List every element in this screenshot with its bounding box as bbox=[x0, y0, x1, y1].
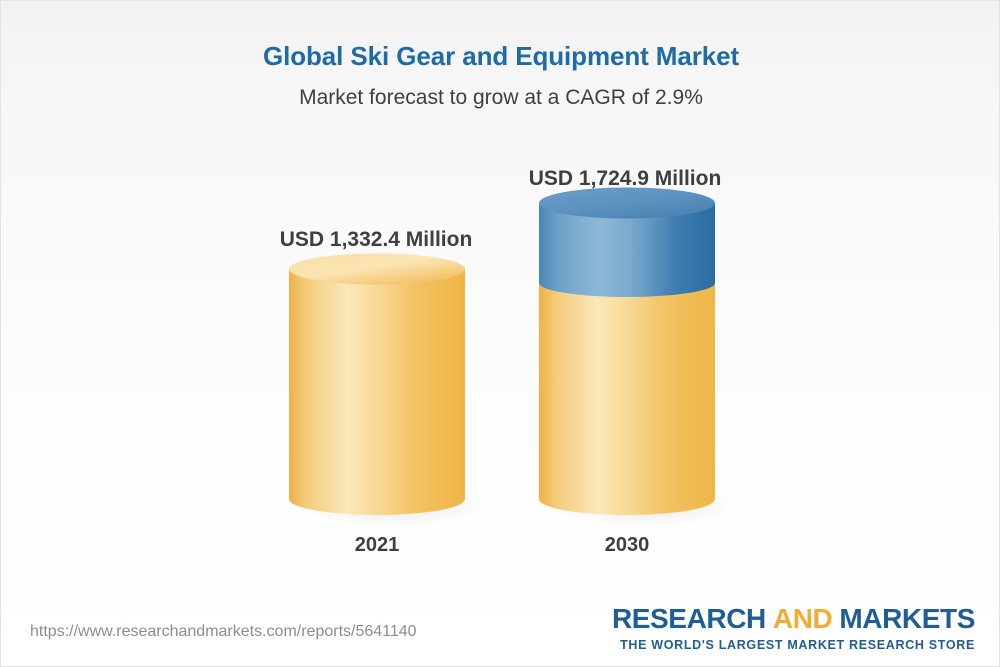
value-label-2021: USD 1,332.4 Million bbox=[226, 228, 526, 252]
cylinder-segment-base-2030 bbox=[539, 283, 715, 515]
logo-word-research: RESEARCH bbox=[612, 603, 766, 634]
cylinder-top-2021 bbox=[289, 254, 465, 285]
cylinder-2030 bbox=[539, 189, 715, 527]
value-label-2030: USD 1,724.9 Million bbox=[475, 167, 775, 191]
logo-word-and: AND bbox=[773, 603, 832, 634]
logo-tagline: THE WORLD'S LARGEST MARKET RESEARCH STOR… bbox=[612, 639, 975, 652]
logo-wordmark: RESEARCHANDMARKETS bbox=[612, 605, 975, 633]
infographic-canvas: Global Ski Gear and Equipment Market Mar… bbox=[0, 0, 1000, 667]
logo-word-markets: MARKETS bbox=[839, 603, 975, 634]
report-url[interactable]: https://www.researchandmarkets.com/repor… bbox=[30, 623, 417, 641]
cylinder-body-2021 bbox=[289, 269, 465, 515]
category-label-2030: 2030 bbox=[477, 534, 777, 557]
cylinder-top-2030 bbox=[539, 188, 715, 219]
researchandmarkets-logo[interactable]: RESEARCHANDMARKETS THE WORLD'S LARGEST M… bbox=[612, 605, 975, 652]
cylinder-2021 bbox=[289, 255, 465, 527]
chart-plot-area: USD 1,332.4 Million bbox=[1, 1, 1000, 667]
